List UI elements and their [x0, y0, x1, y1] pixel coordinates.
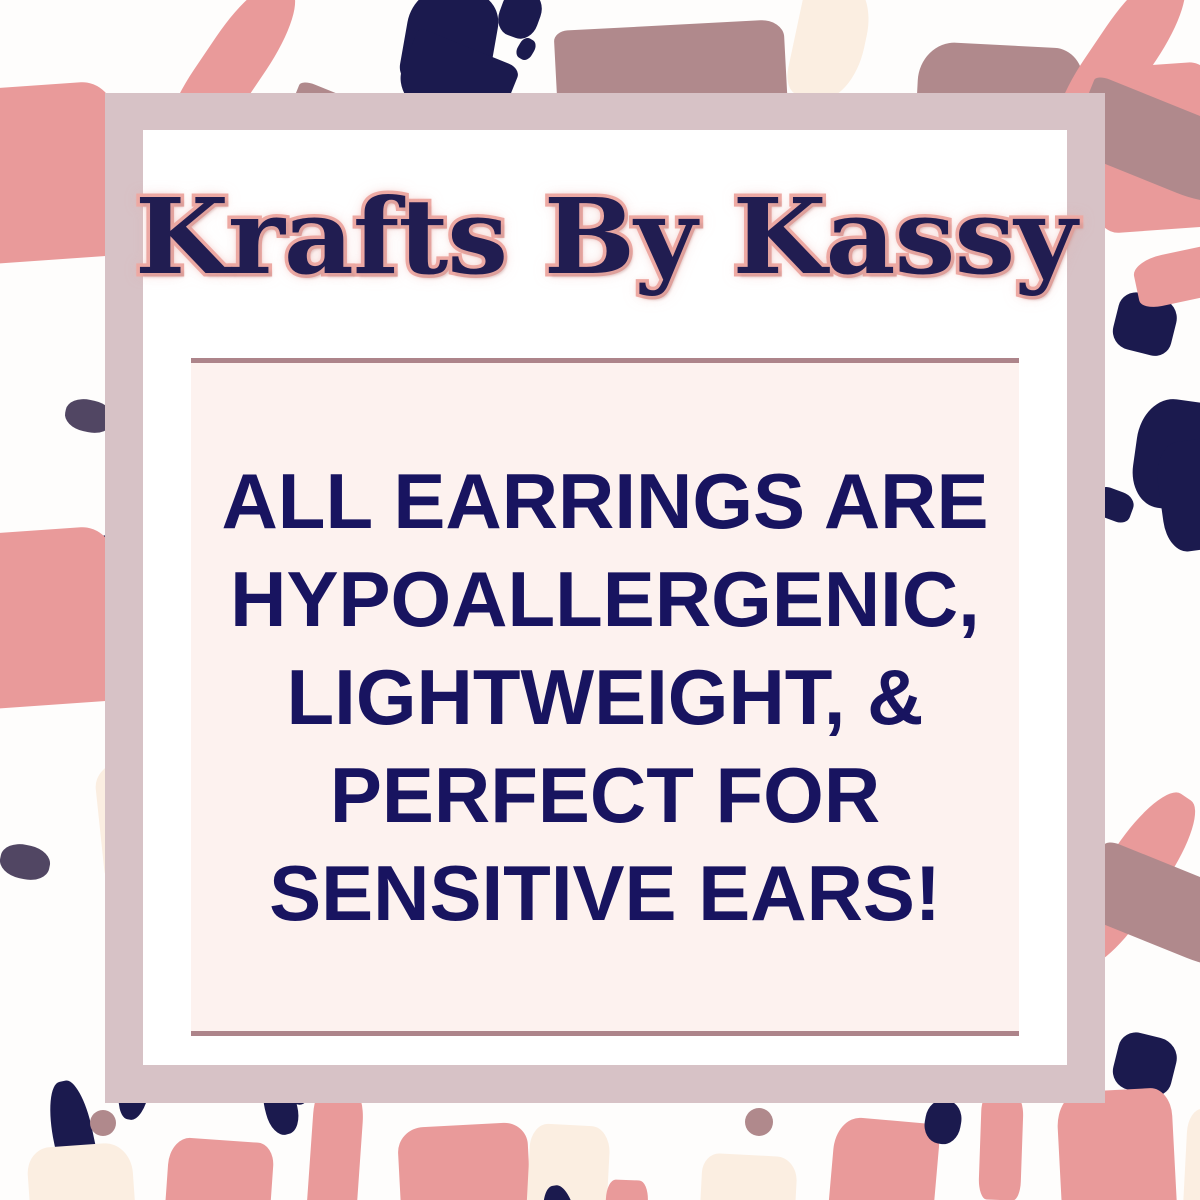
terrazzo-chip — [525, 1123, 611, 1200]
message-line: PERFECT FOR — [330, 746, 880, 844]
terrazzo-chip — [493, 0, 547, 43]
terrazzo-chip — [514, 35, 539, 62]
terrazzo-chip — [26, 1141, 139, 1200]
social-media-graphic: Krafts By Kassy ALL EARRINGS ARE HYPOALL… — [0, 0, 1200, 1200]
terrazzo-chip — [783, 0, 876, 106]
message-line: ALL EARRINGS ARE — [221, 452, 988, 550]
terrazzo-chip — [745, 1108, 773, 1136]
outer-frame: Krafts By Kassy ALL EARRINGS ARE HYPOALL… — [105, 93, 1105, 1103]
message-line: LIGHTWEIGHT, & — [287, 648, 924, 746]
terrazzo-chip — [160, 1137, 275, 1200]
terrazzo-chip — [0, 840, 53, 884]
terrazzo-chip — [1056, 1087, 1179, 1200]
divider-rule-bottom — [191, 1031, 1019, 1036]
terrazzo-chip — [603, 1179, 648, 1200]
brand-logo-text: Krafts By Kassy — [134, 185, 1075, 289]
terrazzo-chip — [978, 1094, 1024, 1200]
terrazzo-chip — [824, 1116, 941, 1200]
frame-inner-card: Krafts By Kassy ALL EARRINGS ARE HYPOALL… — [143, 130, 1067, 1065]
brand-logo: Krafts By Kassy — [143, 152, 1067, 322]
terrazzo-chip — [697, 1153, 798, 1200]
terrazzo-chip — [1131, 240, 1200, 311]
terrazzo-chip — [397, 1122, 533, 1200]
terrazzo-chip — [305, 1088, 365, 1200]
message-line: SENSITIVE EARS! — [269, 844, 941, 942]
message-panel: ALL EARRINGS ARE HYPOALLERGENIC, LIGHTWE… — [191, 363, 1019, 1031]
terrazzo-chip — [90, 1110, 116, 1136]
message-line: HYPOALLERGENIC, — [230, 550, 980, 648]
terrazzo-chip — [1182, 1108, 1200, 1200]
